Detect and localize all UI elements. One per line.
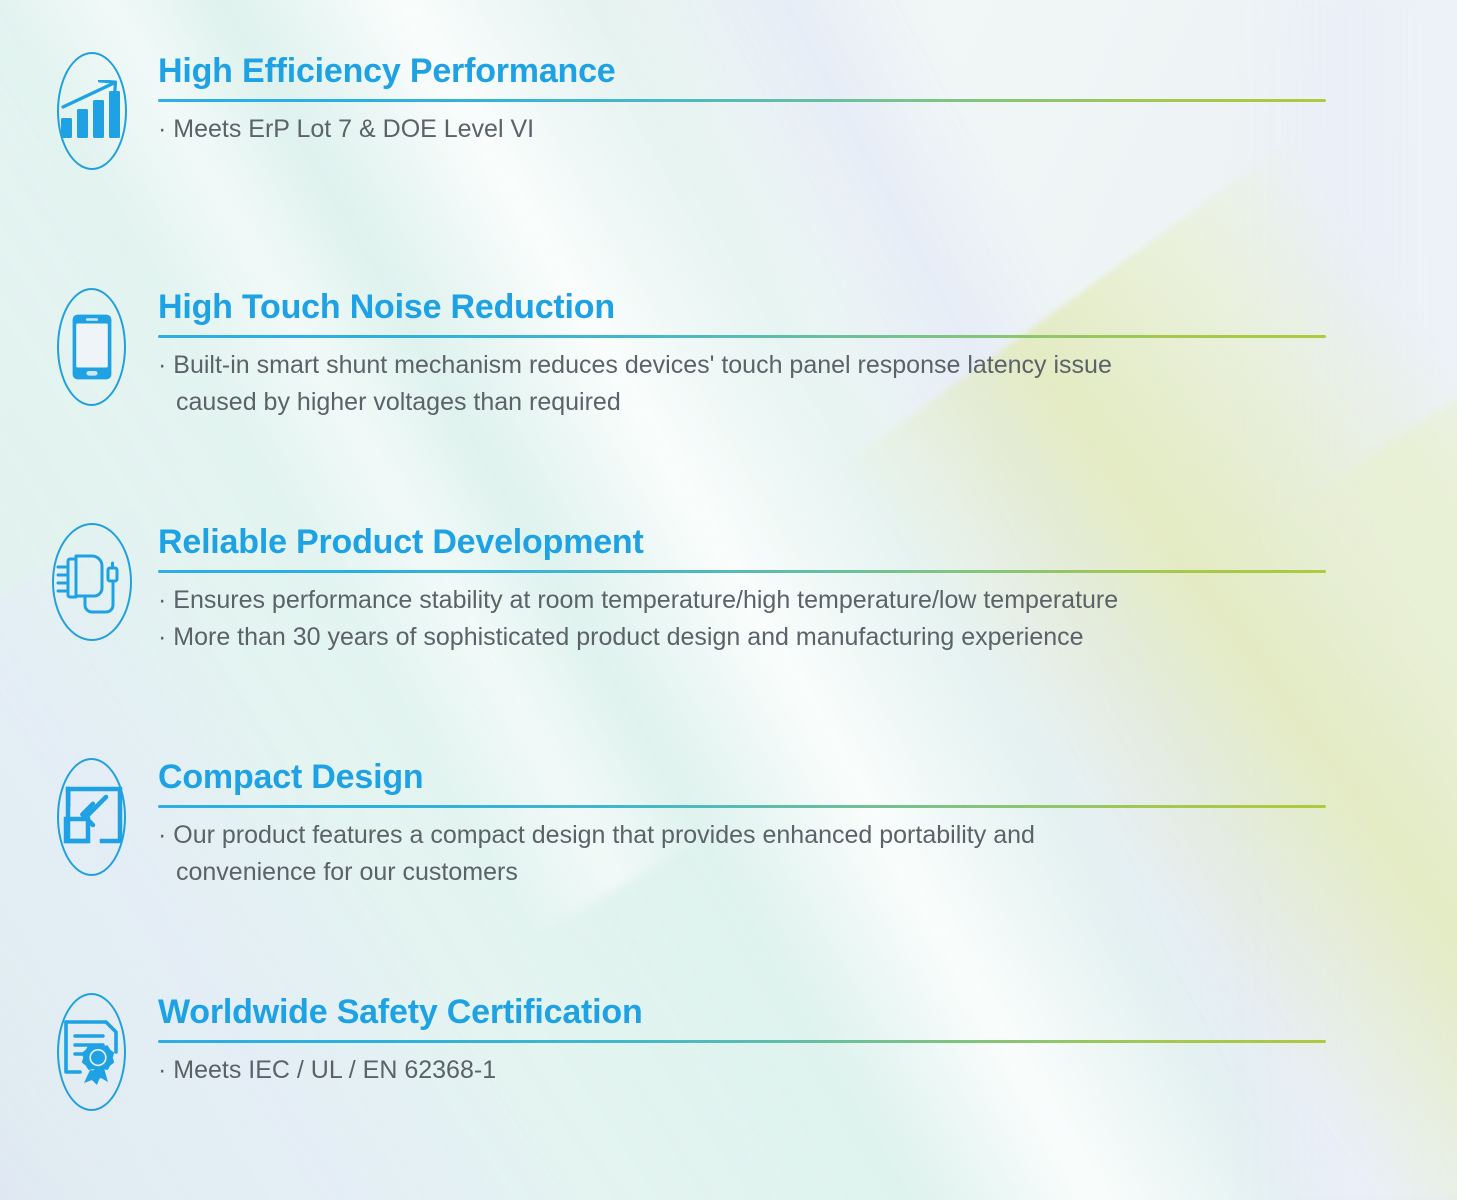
feature-description: · Meets IEC / UL / EN 62368-1 (158, 1052, 1388, 1089)
feature-description-line: · Our product features a compact design … (158, 821, 1035, 849)
feature-title: Reliable Product Development (158, 523, 1457, 561)
feature-description-line: · Meets ErP Lot 7 & DOE Level VI (158, 115, 534, 143)
feature-description-line: · More than 30 years of sophisticated pr… (158, 619, 1388, 656)
feature-description-line: convenience for our customers (158, 854, 1388, 891)
feature-title: Compact Design (158, 758, 1457, 796)
feature-item-reliable-product-development: Reliable Product Development · Ensures p… (0, 523, 1457, 656)
feature-body: High Touch Noise Reduction · Built-in sm… (126, 288, 1457, 421)
feature-item-high-efficiency-performance: High Efficiency Performance · Meets ErP … (0, 52, 1457, 170)
feature-description-line: · Ensures performance stability at room … (158, 586, 1118, 614)
feature-title: High Efficiency Performance (158, 52, 1457, 90)
power-adapter-icon (52, 523, 132, 641)
feature-body: High Efficiency Performance · Meets ErP … (126, 52, 1457, 148)
feature-divider (158, 335, 1326, 338)
feature-divider (158, 570, 1326, 573)
feature-description: · Meets ErP Lot 7 & DOE Level VI (158, 111, 1388, 148)
feature-description: · Ensures performance stability at room … (158, 582, 1388, 656)
feature-title: Worldwide Safety Certification (158, 993, 1457, 1031)
feature-icon-wrap (0, 993, 126, 1111)
feature-description: · Built-in smart shunt mechanism reduces… (158, 347, 1388, 421)
feature-icon-wrap (0, 523, 126, 641)
feature-description-line: · Built-in smart shunt mechanism reduces… (158, 351, 1112, 379)
feature-divider (158, 1040, 1326, 1043)
bar-chart-growth-icon (57, 52, 127, 170)
feature-body: Reliable Product Development · Ensures p… (126, 523, 1457, 656)
feature-description: · Our product features a compact design … (158, 817, 1388, 891)
feature-title: High Touch Noise Reduction (158, 288, 1457, 326)
certificate-seal-icon (57, 993, 126, 1111)
feature-icon-wrap (0, 758, 126, 876)
feature-list: High Efficiency Performance · Meets ErP … (0, 0, 1457, 1200)
feature-item-compact-design: Compact Design · Our product features a … (0, 758, 1457, 891)
feature-divider (158, 805, 1326, 808)
feature-icon-wrap (0, 288, 126, 406)
feature-icon-wrap (0, 52, 126, 170)
feature-body: Worldwide Safety Certification · Meets I… (126, 993, 1457, 1089)
feature-description-line: caused by higher voltages than required (158, 384, 1388, 421)
feature-item-high-touch-noise-reduction: High Touch Noise Reduction · Built-in sm… (0, 288, 1457, 421)
feature-divider (158, 99, 1326, 102)
feature-item-worldwide-safety-certification: Worldwide Safety Certification · Meets I… (0, 993, 1457, 1111)
feature-body: Compact Design · Our product features a … (126, 758, 1457, 891)
compact-resize-icon (57, 758, 126, 876)
smartphone-icon (57, 288, 126, 406)
feature-description-line: · Meets IEC / UL / EN 62368-1 (158, 1056, 496, 1084)
